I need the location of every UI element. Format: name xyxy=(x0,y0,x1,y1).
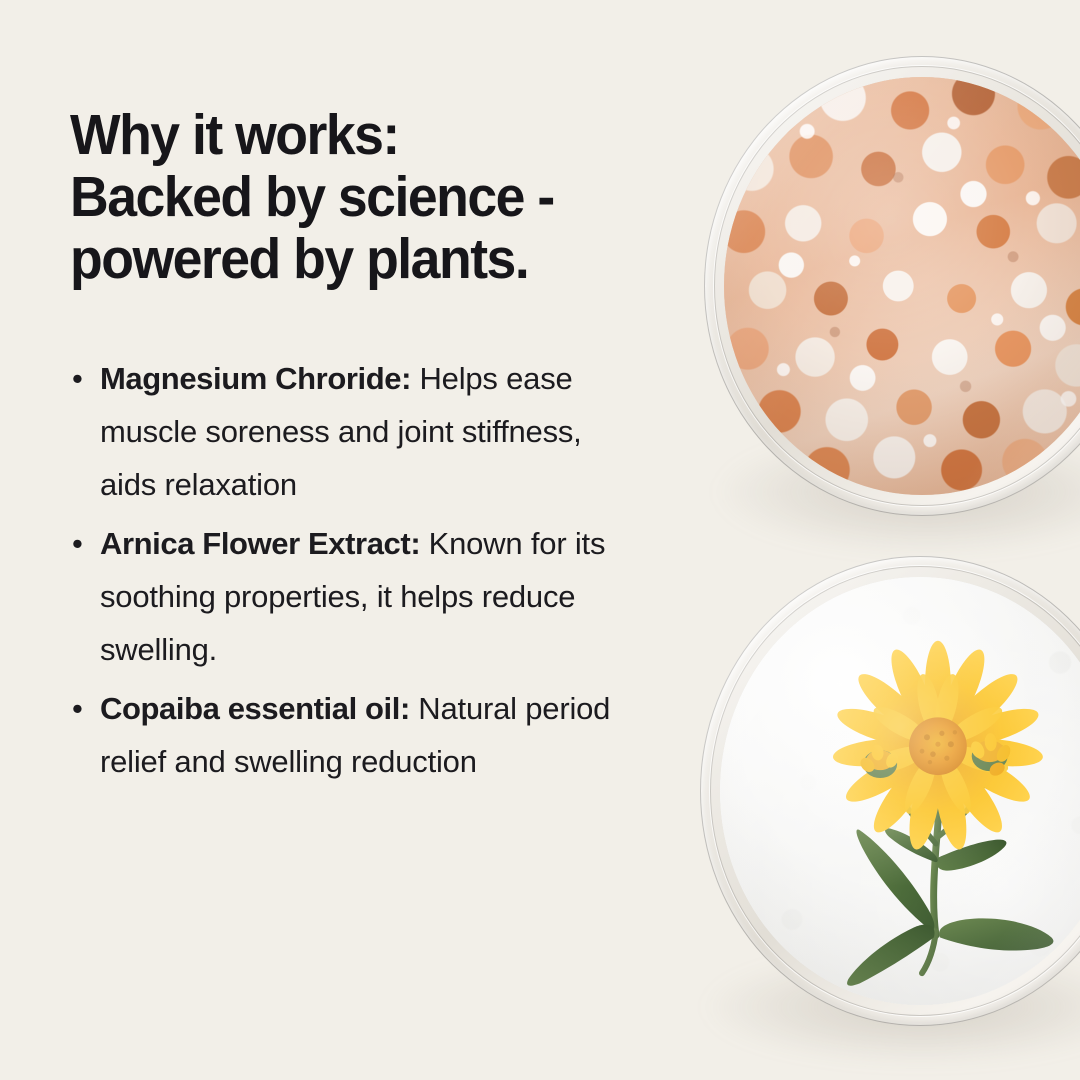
page-title: Why it works: Backed by science - powere… xyxy=(70,104,615,290)
ingredient-benefit-list: •Magnesium Chroride: Helps ease muscle s… xyxy=(68,352,628,788)
arnica-dish-image xyxy=(700,556,1080,1026)
salt-highlights xyxy=(724,77,1080,495)
bullet-marker-icon: • xyxy=(72,352,83,405)
ingredient-name: Copaiba essential oil: xyxy=(100,691,410,726)
list-item: •Magnesium Chroride: Helps ease muscle s… xyxy=(68,352,628,511)
powder-well xyxy=(720,577,1080,1005)
text-column: Why it works: Backed by science - powere… xyxy=(70,104,650,290)
list-item: •Copaiba essential oil: Natural period r… xyxy=(68,682,628,788)
bullet-marker-icon: • xyxy=(72,682,83,735)
infographic-canvas: Why it works: Backed by science - powere… xyxy=(0,0,1080,1080)
ingredient-name: Magnesium Chroride: xyxy=(100,361,411,396)
bullet-marker-icon: • xyxy=(72,517,83,570)
salt-well xyxy=(724,77,1080,495)
ingredient-name: Arnica Flower Extract: xyxy=(100,526,420,561)
salt-dish-image xyxy=(704,56,1080,516)
list-item: •Arnica Flower Extract: Known for its so… xyxy=(68,517,628,676)
